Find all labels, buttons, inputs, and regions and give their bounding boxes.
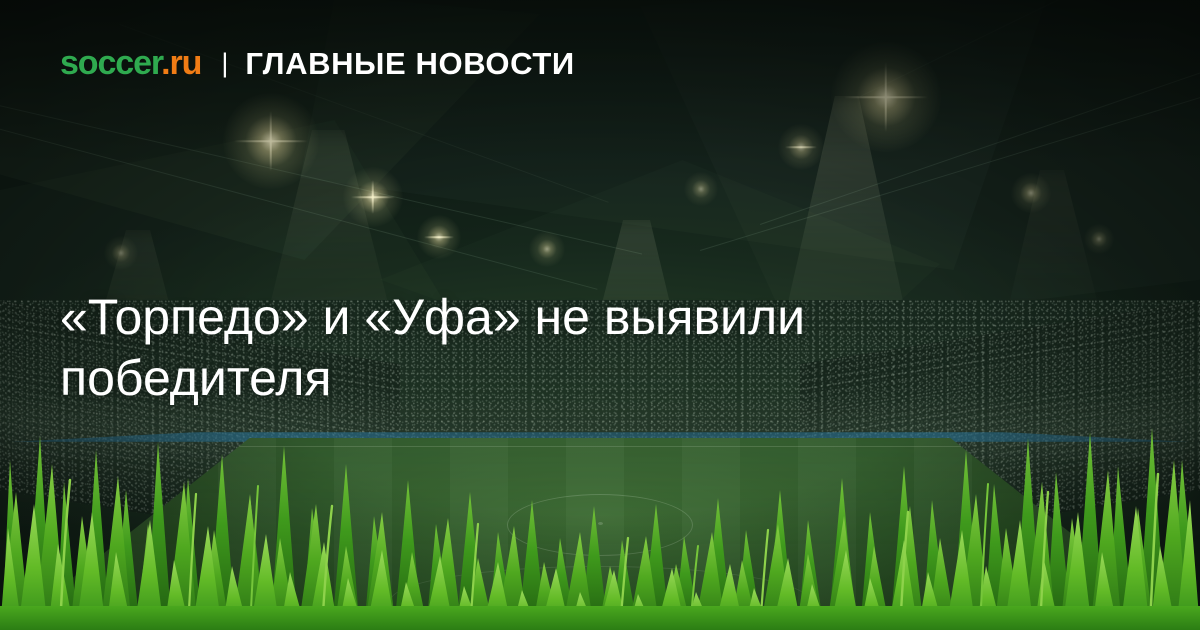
header: soccer.ru | ГЛАВНЫЕ НОВОСТИ <box>60 46 575 80</box>
logo-name-text: soccer <box>60 44 161 82</box>
page-title: «Торпедо» и «Уфа» не выявили победителя <box>60 287 1020 409</box>
header-separator: | <box>221 50 228 77</box>
grass-blades-svg <box>0 420 1200 630</box>
logo-tld-text: .ru <box>161 44 201 82</box>
share-card: soccer.ru | ГЛАВНЫЕ НОВОСТИ «Торпедо» и … <box>0 0 1200 630</box>
grass-base <box>0 606 1200 630</box>
grass-foreground <box>0 420 1200 630</box>
site-logo[interactable]: soccer.ru <box>60 46 201 80</box>
header-kicker: ГЛАВНЫЕ НОВОСТИ <box>245 48 574 79</box>
